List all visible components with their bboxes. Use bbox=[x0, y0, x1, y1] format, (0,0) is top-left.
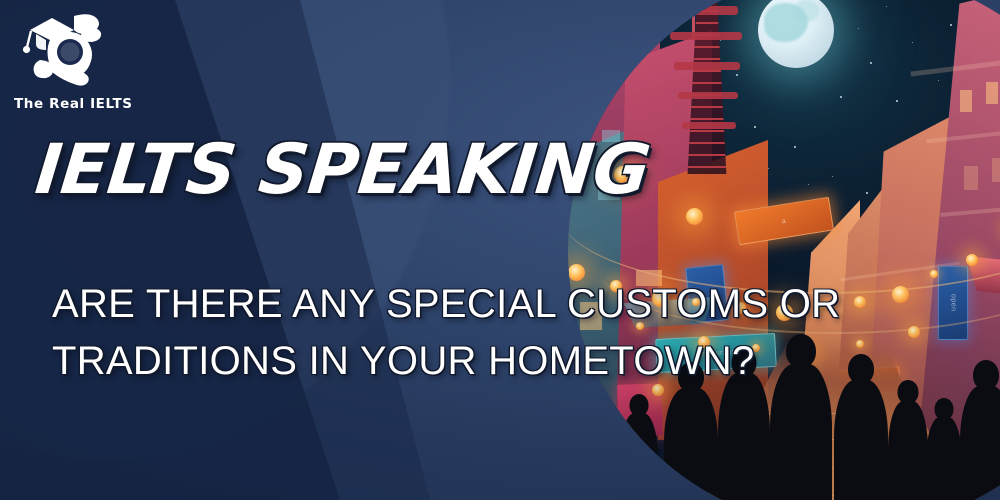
banner-canvas: a restaurant open bbox=[0, 0, 1000, 500]
page-title: IELTS SPEAKING bbox=[32, 134, 653, 206]
brand-name: The Real IELTS bbox=[14, 96, 134, 112]
graduate-rabbit-icon bbox=[22, 10, 108, 92]
street-lamp-globe bbox=[686, 208, 703, 225]
brand-logo[interactable]: The Real IELTS bbox=[14, 10, 134, 118]
question-line-1: ARE THERE ANY SPECIAL CUSTOMS OR bbox=[52, 282, 840, 326]
question-line-2: TRADITIONS IN YOUR HOMETOWN? bbox=[52, 333, 982, 390]
question-text: ARE THERE ANY SPECIAL CUSTOMS OR TRADITI… bbox=[52, 276, 982, 390]
string-light-bulb bbox=[966, 254, 978, 266]
